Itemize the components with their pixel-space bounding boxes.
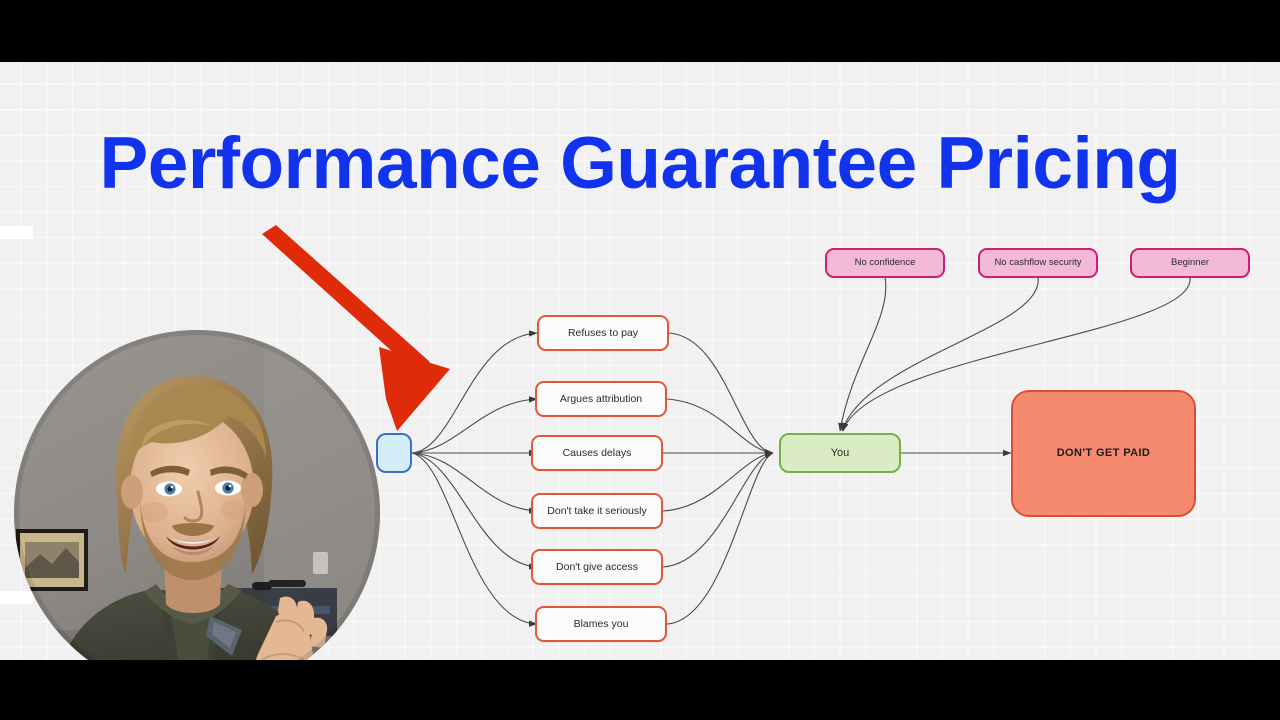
node-feeling-label: No confidence bbox=[849, 258, 922, 269]
node-source[interactable] bbox=[376, 433, 412, 473]
node-obstacle-label: Argues attribution bbox=[554, 393, 648, 405]
node-feeling-label: Beginner bbox=[1165, 258, 1215, 269]
video-frame: Refuses to pay Argues attribution Causes… bbox=[0, 0, 1280, 720]
letterbox-bottom bbox=[0, 660, 1280, 720]
node-feeling-beginner[interactable]: Beginner bbox=[1130, 248, 1250, 278]
node-obstacle-label: Blames you bbox=[568, 618, 635, 630]
node-obstacle-refuses-to-pay[interactable]: Refuses to pay bbox=[537, 315, 669, 351]
node-feeling-label: No cashflow security bbox=[988, 258, 1087, 269]
node-obstacle-label: Causes delays bbox=[557, 447, 638, 459]
letterbox-top bbox=[0, 0, 1280, 62]
node-obstacle-label: Don't take it seriously bbox=[541, 505, 652, 517]
presenter-portrait bbox=[14, 330, 380, 660]
gutter-chip-upper bbox=[0, 226, 33, 239]
gutter-chip-lower bbox=[0, 591, 33, 604]
presenter-webcam-overlay bbox=[14, 330, 380, 660]
node-outcome-label: DON'T GET PAID bbox=[1051, 447, 1157, 460]
node-outcome-dont-get-paid[interactable]: DON'T GET PAID bbox=[1011, 390, 1196, 517]
node-you[interactable]: You bbox=[779, 433, 901, 473]
node-obstacle-blames-you[interactable]: Blames you bbox=[535, 606, 667, 642]
node-feeling-no-cashflow-security[interactable]: No cashflow security bbox=[978, 248, 1098, 278]
node-obstacle-label: Refuses to pay bbox=[562, 327, 644, 339]
node-obstacle-dont-give-access[interactable]: Don't give access bbox=[531, 549, 663, 585]
node-obstacle-argues-attribution[interactable]: Argues attribution bbox=[535, 381, 667, 417]
node-obstacle-causes-delays[interactable]: Causes delays bbox=[531, 435, 663, 471]
node-obstacle-label: Don't give access bbox=[550, 561, 644, 573]
node-obstacle-dont-take-seriously[interactable]: Don't take it seriously bbox=[531, 493, 663, 529]
node-you-label: You bbox=[825, 447, 856, 460]
node-feeling-no-confidence[interactable]: No confidence bbox=[825, 248, 945, 278]
page-title: Performance Guarantee Pricing bbox=[0, 118, 1280, 210]
